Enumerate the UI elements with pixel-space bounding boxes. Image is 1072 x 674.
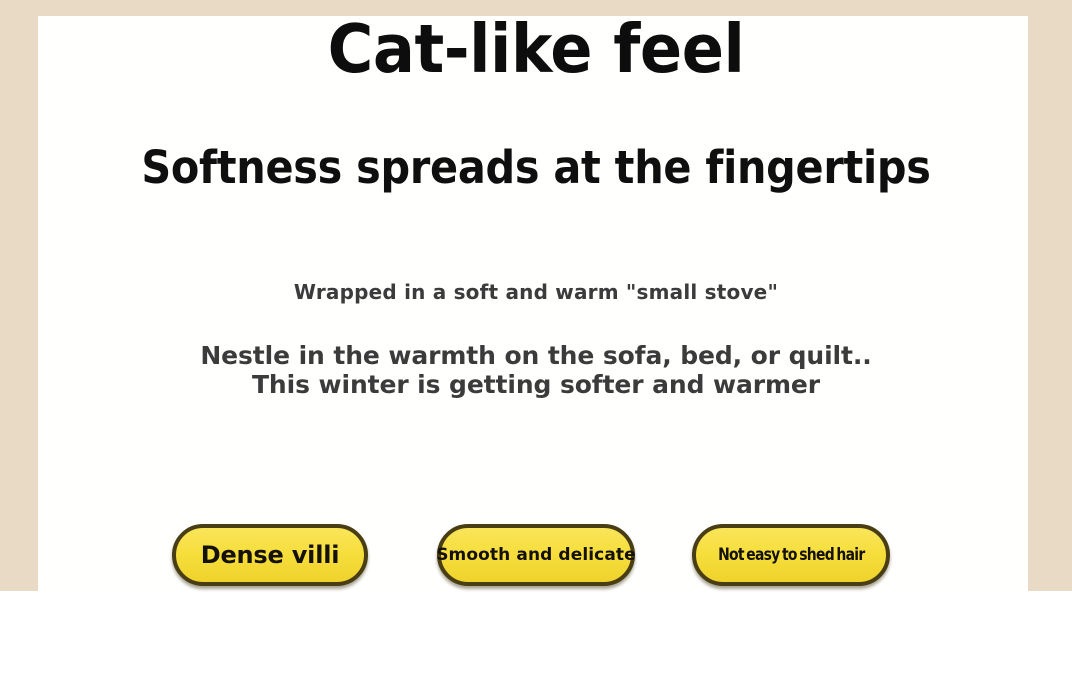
- feature-badge-dense-villi[interactable]: Dense villi: [172, 524, 368, 586]
- page-subtitle: Softness spreads at the fingertips: [43, 145, 1029, 190]
- feature-badge-not-easy-to-shed-hair[interactable]: Not easy to shed hair: [692, 524, 890, 586]
- feature-badge-label: Not easy to shed hair: [718, 545, 864, 565]
- feature-badge-label: Dense villi: [201, 541, 340, 569]
- description-line-2: This winter is getting softer and warmer: [0, 370, 1072, 399]
- tagline-text: Wrapped in a soft and warm "small stove": [0, 282, 1072, 302]
- feature-badge-label: Smooth and delicate: [436, 545, 636, 565]
- description-line-1: Nestle in the warmth on the sofa, bed, o…: [0, 341, 1072, 370]
- feature-badge-row: Dense villi Smooth and delicate Not easy…: [38, 524, 1028, 592]
- page-title: Cat-like feel: [38, 16, 1035, 83]
- poster-canvas: Cat-like feel Softness spreads at the fi…: [0, 0, 1072, 674]
- feature-badge-smooth-and-delicate[interactable]: Smooth and delicate: [437, 524, 635, 586]
- description-block: Nestle in the warmth on the sofa, bed, o…: [0, 341, 1072, 399]
